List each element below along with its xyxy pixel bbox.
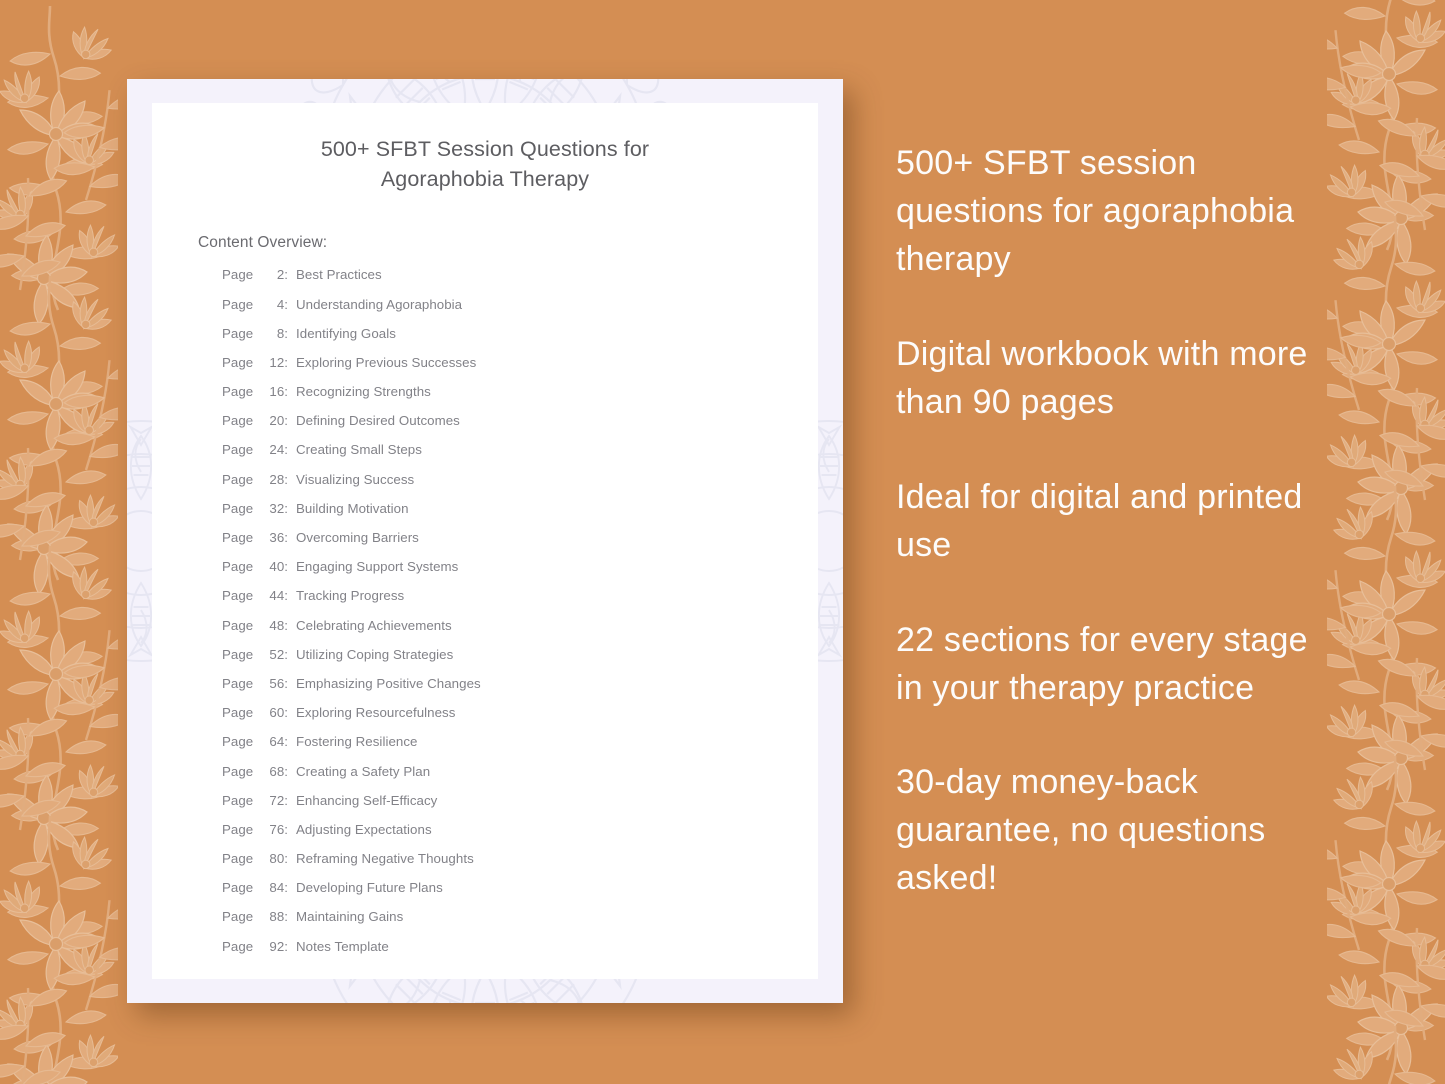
toc-colon: : <box>284 619 288 632</box>
toc-page-word: Page <box>222 910 253 923</box>
toc-page-word: Page <box>222 502 253 515</box>
toc-section-title: Celebrating Achievements <box>296 619 452 632</box>
toc-colon: : <box>284 356 288 369</box>
toc-row: Page84:Developing Future Plans <box>222 881 818 910</box>
toc-section-title: Adjusting Expectations <box>296 823 432 836</box>
floral-vine-right-icon <box>1327 0 1445 1084</box>
toc-page-number: 92 <box>258 940 284 953</box>
toc-colon: : <box>284 881 288 894</box>
toc-section-title: Best Practices <box>296 268 382 281</box>
toc-page-number: 52 <box>258 648 284 661</box>
toc-section-title: Maintaining Gains <box>296 910 403 923</box>
toc-section-title: Tracking Progress <box>296 589 404 602</box>
toc-page-number: 40 <box>258 560 284 573</box>
feature-list: 500+ SFBT session questions for agorapho… <box>896 140 1326 903</box>
toc-section-title: Enhancing Self-Efficacy <box>296 794 437 807</box>
toc-page-word: Page <box>222 385 253 398</box>
toc-row: Page52:Utilizing Coping Strategies <box>222 648 818 677</box>
toc-colon: : <box>284 735 288 748</box>
toc-page-number: 84 <box>258 881 284 894</box>
feature-item: 22 sections for every stage in your ther… <box>896 617 1326 713</box>
toc-row: Page64:Fostering Resilience <box>222 735 818 764</box>
toc-row: Page16:Recognizing Strengths <box>222 385 818 414</box>
product-preview-card: 500+ SFBT Session Questions for Agorapho… <box>127 79 843 1003</box>
toc-row: Page76:Adjusting Expectations <box>222 823 818 852</box>
toc-colon: : <box>284 794 288 807</box>
toc-colon: : <box>284 531 288 544</box>
toc-row: Page68:Creating a Safety Plan <box>222 765 818 794</box>
toc-row: Page20:Defining Desired Outcomes <box>222 414 818 443</box>
toc-colon: : <box>284 940 288 953</box>
toc-page-word: Page <box>222 881 253 894</box>
toc-page-word: Page <box>222 531 253 544</box>
toc-section-title: Identifying Goals <box>296 327 396 340</box>
toc-section-title: Building Motivation <box>296 502 409 515</box>
content-overview-label: Content Overview: <box>152 194 818 252</box>
toc-colon: : <box>284 677 288 690</box>
toc-colon: : <box>284 298 288 311</box>
toc-page-word: Page <box>222 794 253 807</box>
toc-section-title: Notes Template <box>296 940 389 953</box>
toc-page-word: Page <box>222 473 253 486</box>
toc-row: Page80:Reframing Negative Thoughts <box>222 852 818 881</box>
toc-page-number: 72 <box>258 794 284 807</box>
toc-page-word: Page <box>222 677 253 690</box>
toc-page-word: Page <box>222 765 253 778</box>
toc-page-number: 64 <box>258 735 284 748</box>
toc-page-number: 8 <box>258 327 284 340</box>
toc-page-number: 36 <box>258 531 284 544</box>
toc-page-word: Page <box>222 823 253 836</box>
toc-page-word: Page <box>222 298 253 311</box>
toc-section-title: Overcoming Barriers <box>296 531 419 544</box>
toc-section-title: Defining Desired Outcomes <box>296 414 460 427</box>
toc-colon: : <box>284 268 288 281</box>
toc-page-number: 88 <box>258 910 284 923</box>
toc-section-title: Fostering Resilience <box>296 735 417 748</box>
toc-page-word: Page <box>222 414 253 427</box>
toc-section-title: Recognizing Strengths <box>296 385 431 398</box>
toc-colon: : <box>284 648 288 661</box>
toc-row: Page24:Creating Small Steps <box>222 443 818 472</box>
toc-row: Page48:Celebrating Achievements <box>222 619 818 648</box>
toc-colon: : <box>284 910 288 923</box>
toc-section-title: Understanding Agoraphobia <box>296 298 462 311</box>
toc-page-number: 80 <box>258 852 284 865</box>
toc-page-number: 4 <box>258 298 284 311</box>
toc-row: Page92:Notes Template <box>222 940 818 969</box>
toc-page-word: Page <box>222 560 253 573</box>
toc-section-title: Engaging Support Systems <box>296 560 458 573</box>
toc-page-word: Page <box>222 268 253 281</box>
floral-vine-left-icon <box>0 0 118 1084</box>
feature-item: 30-day money-back guarantee, no question… <box>896 759 1326 903</box>
toc-colon: : <box>284 414 288 427</box>
toc-section-title: Exploring Previous Successes <box>296 356 476 369</box>
toc-colon: : <box>284 385 288 398</box>
toc-page-word: Page <box>222 735 253 748</box>
toc-colon: : <box>284 823 288 836</box>
table-of-contents: Page2:Best PracticesPage4:Understanding … <box>152 252 818 969</box>
toc-page-number: 2 <box>258 268 284 281</box>
toc-page-number: 12 <box>258 356 284 369</box>
feature-item: Digital workbook with more than 90 pages <box>896 331 1326 427</box>
toc-section-title: Utilizing Coping Strategies <box>296 648 453 661</box>
document-page: 500+ SFBT Session Questions for Agorapho… <box>152 103 818 979</box>
toc-row: Page72:Enhancing Self-Efficacy <box>222 794 818 823</box>
toc-page-word: Page <box>222 589 253 602</box>
toc-page-number: 28 <box>258 473 284 486</box>
toc-section-title: Visualizing Success <box>296 473 414 486</box>
toc-row: Page32:Building Motivation <box>222 502 818 531</box>
toc-colon: : <box>284 443 288 456</box>
toc-row: Page28:Visualizing Success <box>222 473 818 502</box>
toc-page-word: Page <box>222 443 253 456</box>
toc-section-title: Developing Future Plans <box>296 881 443 894</box>
toc-row: Page60:Exploring Resourcefulness <box>222 706 818 735</box>
toc-section-title: Reframing Negative Thoughts <box>296 852 474 865</box>
toc-colon: : <box>284 560 288 573</box>
toc-colon: : <box>284 706 288 719</box>
toc-colon: : <box>284 765 288 778</box>
toc-page-number: 16 <box>258 385 284 398</box>
toc-page-number: 60 <box>258 706 284 719</box>
toc-colon: : <box>284 852 288 865</box>
toc-colon: : <box>284 589 288 602</box>
poster-canvas: 500+ SFBT Session Questions for Agorapho… <box>0 0 1445 1084</box>
toc-row: Page36:Overcoming Barriers <box>222 531 818 560</box>
toc-section-title: Creating a Safety Plan <box>296 765 430 778</box>
toc-page-word: Page <box>222 327 253 340</box>
toc-page-word: Page <box>222 619 253 632</box>
toc-row: Page2:Best Practices <box>222 268 818 297</box>
toc-page-number: 68 <box>258 765 284 778</box>
toc-colon: : <box>284 502 288 515</box>
toc-row: Page40:Engaging Support Systems <box>222 560 818 589</box>
toc-row: Page56:Emphasizing Positive Changes <box>222 677 818 706</box>
page-title: 500+ SFBT Session Questions for Agorapho… <box>152 103 818 194</box>
toc-page-number: 44 <box>258 589 284 602</box>
toc-page-number: 56 <box>258 677 284 690</box>
feature-item: Ideal for digital and printed use <box>896 474 1326 570</box>
toc-row: Page8:Identifying Goals <box>222 327 818 356</box>
toc-row: Page12:Exploring Previous Successes <box>222 356 818 385</box>
toc-page-number: 24 <box>258 443 284 456</box>
toc-section-title: Emphasizing Positive Changes <box>296 677 481 690</box>
toc-row: Page4:Understanding Agoraphobia <box>222 298 818 327</box>
toc-page-number: 20 <box>258 414 284 427</box>
toc-page-word: Page <box>222 852 253 865</box>
feature-item: 500+ SFBT session questions for agorapho… <box>896 140 1326 284</box>
toc-page-word: Page <box>222 356 253 369</box>
toc-row: Page88:Maintaining Gains <box>222 910 818 939</box>
toc-section-title: Creating Small Steps <box>296 443 422 456</box>
toc-colon: : <box>284 473 288 486</box>
toc-page-word: Page <box>222 648 253 661</box>
toc-row: Page44:Tracking Progress <box>222 589 818 618</box>
toc-page-word: Page <box>222 706 253 719</box>
toc-page-number: 48 <box>258 619 284 632</box>
toc-colon: : <box>284 327 288 340</box>
toc-section-title: Exploring Resourcefulness <box>296 706 455 719</box>
toc-page-number: 76 <box>258 823 284 836</box>
toc-page-word: Page <box>222 940 253 953</box>
toc-page-number: 32 <box>258 502 284 515</box>
